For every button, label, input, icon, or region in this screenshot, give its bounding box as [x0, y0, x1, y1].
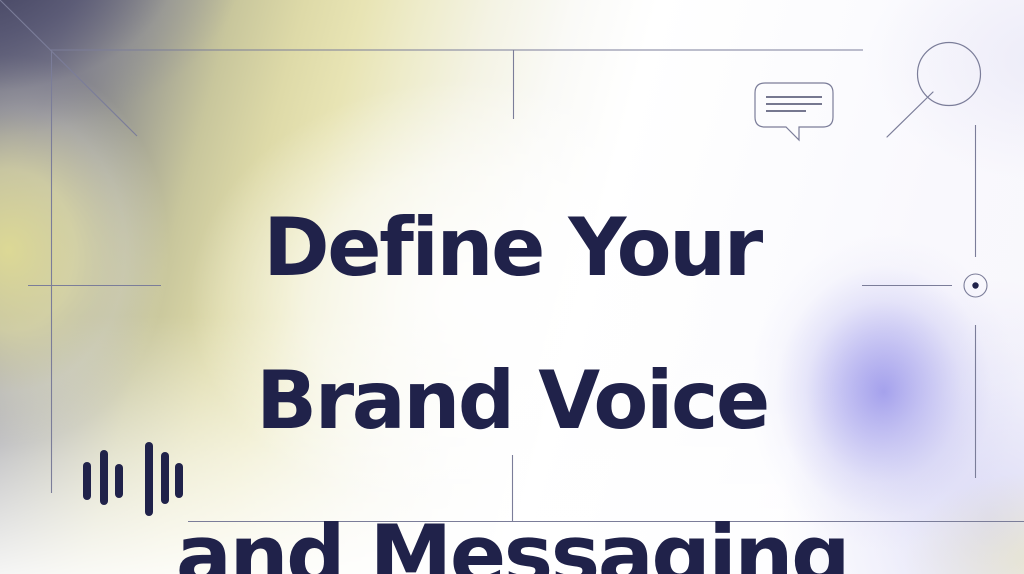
slide-canvas: Define Your Brand Voice and Messaging: [0, 0, 1024, 574]
headline-line-3: and Messaging: [70, 516, 954, 574]
slide-headline: Define Your Brand Voice and Messaging: [0, 134, 1024, 574]
headline-line-2: Brand Voice: [70, 363, 954, 439]
headline-line-1: Define Your: [70, 210, 954, 286]
